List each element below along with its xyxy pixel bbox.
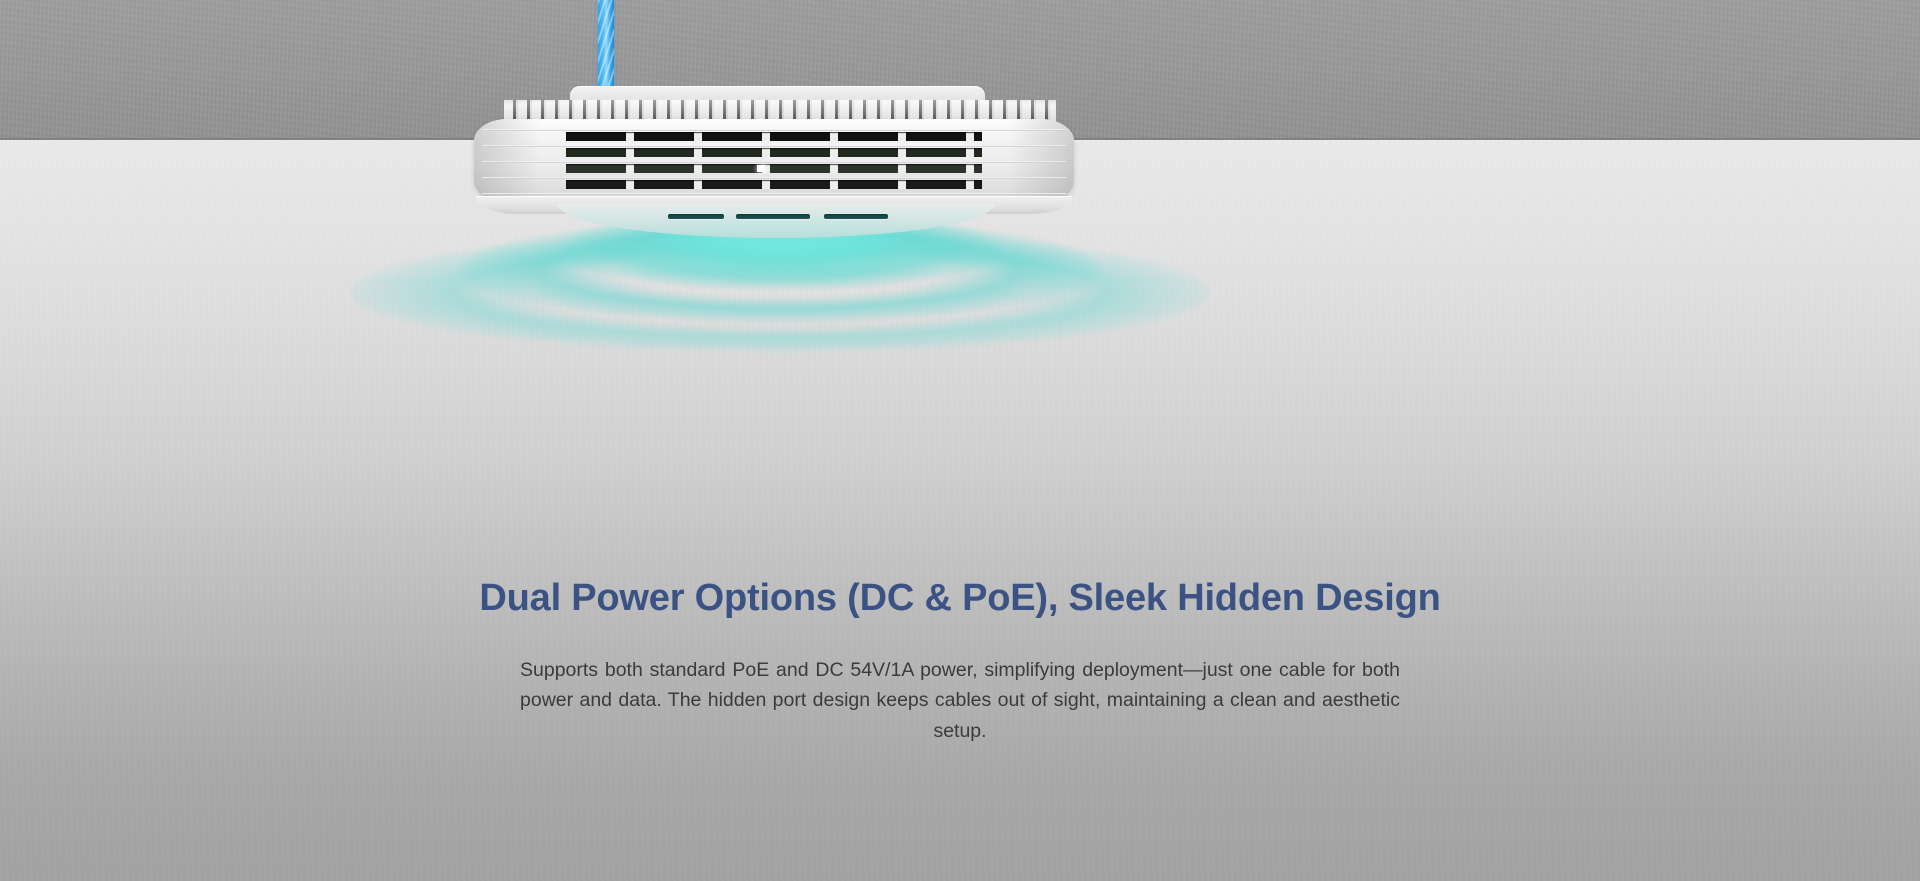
status-led-indicator (757, 165, 765, 172)
vent-slot-row (566, 148, 982, 157)
vent-slot-row (566, 164, 982, 173)
wall-background (0, 140, 1920, 881)
product-feature-scene: Dual Power Options (DC & PoE), Sleek Hid… (0, 0, 1920, 881)
hidden-port-group (668, 214, 888, 220)
body-ridge (482, 177, 1066, 179)
feature-description: Supports both standard PoE and DC 54V/1A… (520, 655, 1400, 747)
feature-headline: Dual Power Options (DC & PoE), Sleek Hid… (0, 575, 1920, 623)
wireless-access-point (470, 86, 1090, 226)
body-ridge (482, 161, 1066, 163)
body-ridge (482, 145, 1066, 147)
body-ridge (482, 193, 1066, 195)
body-ridge (482, 129, 1066, 131)
hidden-port-slot (824, 214, 888, 219)
hidden-port-slot (736, 214, 810, 219)
vent-slot-row (566, 180, 982, 189)
vent-slot-row (566, 132, 982, 141)
access-point-body (474, 119, 1074, 203)
wall-texture (0, 140, 1920, 881)
hidden-port-slot (668, 214, 724, 219)
feature-caption: Dual Power Options (DC & PoE), Sleek Hid… (0, 575, 1920, 747)
